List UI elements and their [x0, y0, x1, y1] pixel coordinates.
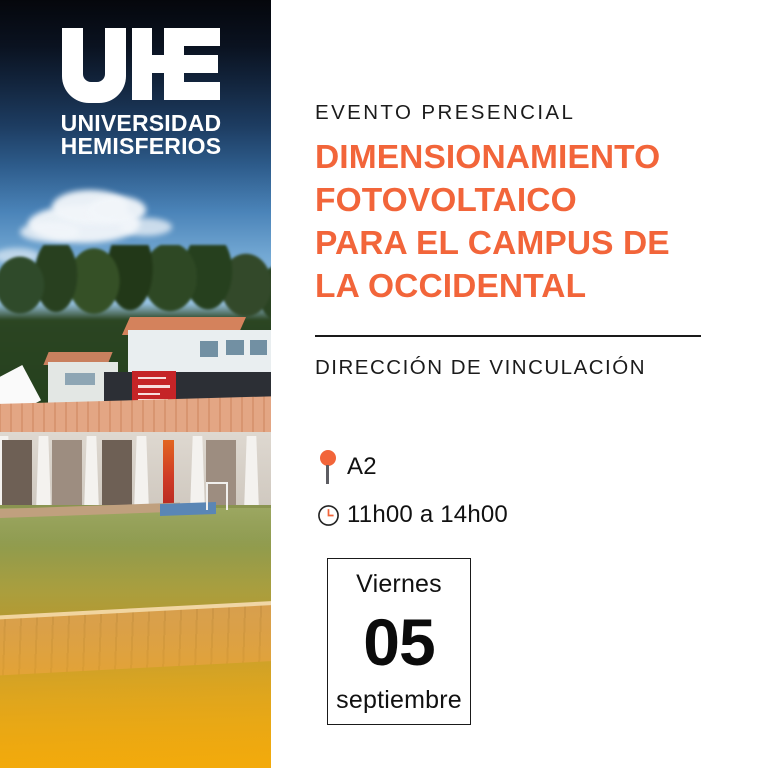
lower-lawn — [0, 660, 271, 768]
window — [200, 341, 218, 357]
time-row: 11h00 a 14h00 — [309, 491, 709, 539]
event-meta: A2 11h00 a 14h00 — [309, 443, 709, 539]
event-poster: UNIVERSIDAD HEMISFERIOS EVENTO PRESENCIA… — [0, 0, 768, 768]
title-divider — [315, 335, 701, 337]
location-row: A2 — [309, 443, 709, 491]
logo-wordmark: UNIVERSIDAD HEMISFERIOS — [56, 112, 226, 159]
cloud-shape — [120, 218, 172, 236]
title-line-1: DIMENSIONAMIENTO — [315, 136, 735, 179]
title-line-4: LA OCCIDENTAL — [315, 265, 735, 308]
campus-photo-panel: UNIVERSIDAD HEMISFERIOS — [0, 0, 271, 768]
window — [65, 373, 95, 385]
location-text: A2 — [347, 453, 377, 481]
window — [226, 340, 244, 355]
university-logo: UNIVERSIDAD HEMISFERIOS — [56, 26, 226, 159]
title-line-3: PARA EL CAMPUS DE — [315, 222, 735, 265]
date-weekday: Viernes — [356, 570, 442, 599]
clock-icon — [309, 504, 347, 527]
date-badge: Viernes 05 septiembre — [327, 558, 471, 725]
window — [250, 340, 267, 355]
doorway — [102, 440, 132, 512]
logo-name-line1: UNIVERSIDAD — [56, 112, 226, 135]
uhe-logomark-icon — [60, 26, 222, 106]
vertical-banner — [163, 440, 174, 508]
doorway — [52, 440, 82, 512]
map-pin-icon — [309, 450, 347, 484]
logo-name-line2: HEMISFERIOS — [56, 135, 226, 158]
event-title: DIMENSIONAMIENTO FOTOVOLTAICO PARA EL CA… — [315, 136, 735, 308]
cloud-shape — [20, 222, 80, 242]
date-month: septiembre — [336, 686, 462, 715]
doorway — [2, 440, 32, 512]
organizer-subtitle: DIRECCIÓN DE VINCULACIÓN — [315, 356, 646, 380]
title-line-2: FOTOVOLTAICO — [315, 179, 735, 222]
content-panel: EVENTO PRESENCIAL DIMENSIONAMIENTO FOTOV… — [271, 0, 768, 768]
event-kicker: EVENTO PRESENCIAL — [315, 101, 575, 125]
metal-frame — [206, 482, 228, 510]
date-day: 05 — [363, 612, 434, 673]
time-text: 11h00 a 14h00 — [347, 501, 508, 529]
